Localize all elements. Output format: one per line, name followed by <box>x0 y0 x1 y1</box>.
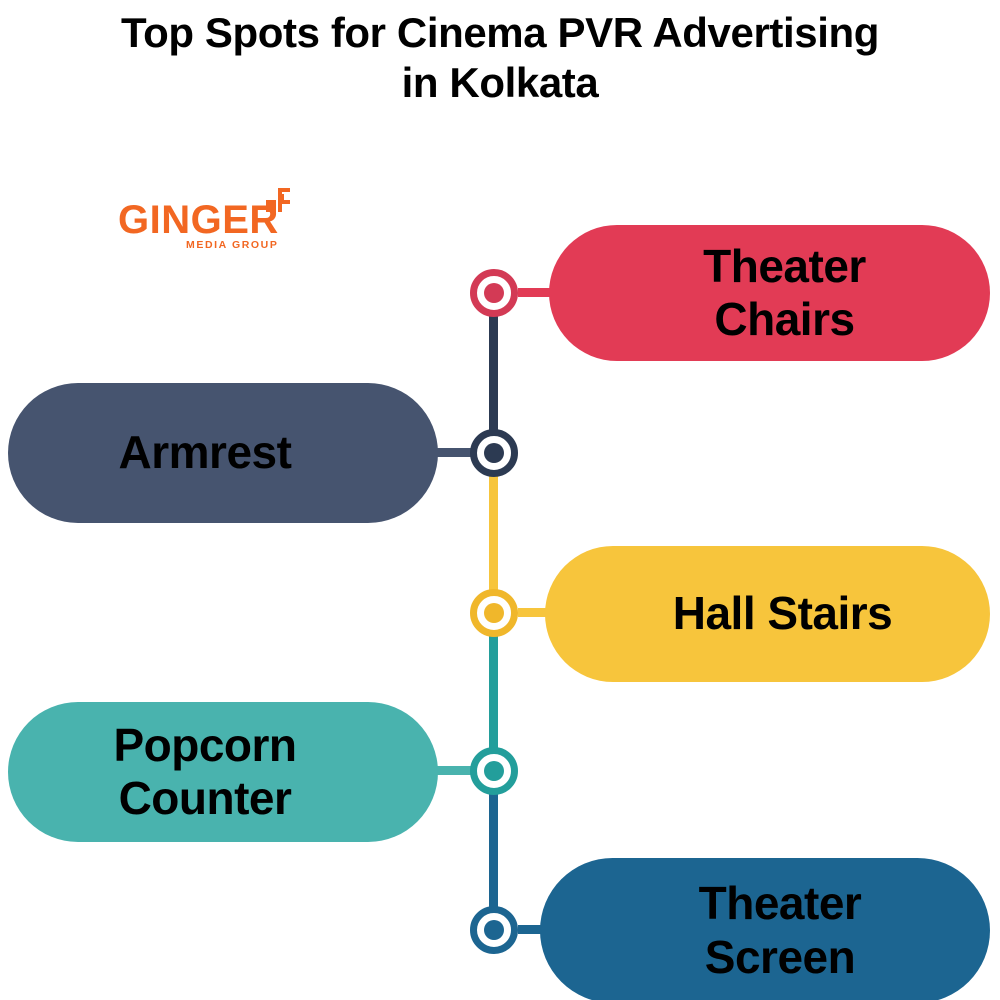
pill-label-popcorn-counter: Popcorn Counter <box>8 719 438 826</box>
logo-tagline: MEDIA GROUP <box>186 240 278 251</box>
pill-label-hall-stairs: Hall Stairs <box>545 587 990 640</box>
infographic-canvas: Top Spots for Cinema PVR Advertising in … <box>0 0 1000 1000</box>
marker-hall-stairs[interactable] <box>470 589 518 637</box>
marker-armrest[interactable] <box>470 429 518 477</box>
pill-label-armrest: Armrest <box>8 426 438 479</box>
marker-theater-screen[interactable] <box>470 906 518 954</box>
logo-wordmark: GINGER <box>118 200 279 240</box>
marker-core-theater-screen <box>484 920 504 940</box>
ginger-nested-squares-mark-icon <box>256 178 300 222</box>
marker-popcorn-counter[interactable] <box>470 747 518 795</box>
pill-hall-stairs[interactable]: Hall Stairs <box>545 546 990 682</box>
pill-armrest[interactable]: Armrest <box>8 383 438 523</box>
marker-core-armrest <box>484 443 504 463</box>
pill-theater-chairs[interactable]: Theater Chairs <box>549 225 990 361</box>
pill-label-theater-chairs: Theater Chairs <box>549 240 990 347</box>
pill-label-theater-screen: Theater Screen <box>540 877 990 984</box>
marker-core-hall-stairs <box>484 603 504 623</box>
page-title: Top Spots for Cinema PVR Advertising in … <box>0 8 1000 107</box>
pill-theater-screen[interactable]: Theater Screen <box>540 858 990 1000</box>
marker-core-popcorn-counter <box>484 761 504 781</box>
marker-theater-chairs[interactable] <box>470 269 518 317</box>
ginger-media-group-logo: GINGER MEDIA GROUP <box>118 178 318 264</box>
marker-core-theater-chairs <box>484 283 504 303</box>
pill-popcorn-counter[interactable]: Popcorn Counter <box>8 702 438 842</box>
